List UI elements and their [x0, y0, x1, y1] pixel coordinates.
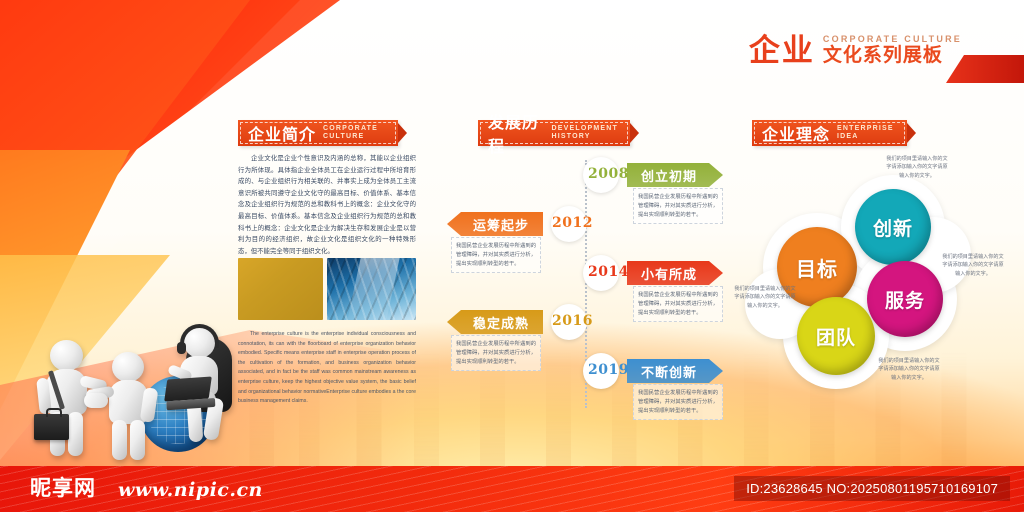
timeline-stage-banner[interactable]: 不断创新: [627, 359, 723, 383]
idea-note-1: 我们的项目里请输入你的文字请添加输入你的文字请原输入你的文字。: [885, 155, 949, 180]
enterprise-idea-diagram: 目标创新服务团队我们的项目里请输入你的文字请添加输入你的文字请原输入你的文字。我…: [745, 165, 1010, 395]
header-subtitle-cn: 文化系列展板: [823, 46, 962, 65]
idea-circle-2[interactable]: 创新: [855, 189, 931, 265]
idea-circle-label: 服务: [885, 286, 925, 313]
timeline-year: 2008: [588, 166, 629, 182]
section-title-intro-cn: 企业简介: [248, 121, 316, 145]
section-title-idea: 企业理念 ENTERPRISE IDEA: [752, 120, 907, 146]
timeline-stage-label: 创立初期: [641, 166, 697, 185]
timeline-stage-label: 稳定成熟: [473, 313, 529, 332]
timeline-stage-label: 不断创新: [641, 362, 697, 381]
idea-circle-4[interactable]: 团队: [797, 297, 875, 375]
header-subtitle-group: CORPORATE CULTURE 文化系列展板: [823, 34, 962, 67]
section-title-idea-cn: 企业理念: [762, 121, 830, 145]
site-logo: 昵享网: [30, 477, 96, 500]
timeline-stage-banner[interactable]: 小有所成: [627, 261, 723, 285]
idea-circle-label: 团队: [816, 323, 856, 350]
section-title-intro: 企业简介 CORPORATE CULTURE: [238, 120, 398, 146]
header-title-cn: 企业: [749, 36, 815, 67]
poster-board: 企业 CORPORATE CULTURE 文化系列展板 企业简介 CORPORA…: [0, 0, 1024, 512]
section-title-history-cn: 发展历程: [488, 109, 545, 157]
figure2-leg-left: [112, 420, 127, 460]
asset-id-badge: ID:23628645 NO:20250801195710169107: [734, 476, 1010, 501]
idea-note-4: 我们的项目里请输入你的文字请添加输入你的文字请原输入你的文字。: [733, 285, 797, 310]
section-title-intro-en: CORPORATE CULTURE: [323, 125, 378, 142]
timeline-stage-banner[interactable]: 运筹起步: [447, 212, 543, 236]
header-title-en: CORPORATE CULTURE: [823, 34, 962, 44]
timeline-year: 2014: [588, 264, 629, 280]
site-url[interactable]: www.nipic.cn: [118, 479, 263, 501]
idea-circle-3[interactable]: 服务: [867, 261, 943, 337]
poster-header: 企业 CORPORATE CULTURE 文化系列展板: [749, 34, 962, 67]
timeline-year: 2012: [552, 215, 593, 231]
idea-note-3: 我们的项目里请输入你的文字请添加输入你的文字请原输入你的文字。: [877, 357, 941, 382]
section-title-history: 发展历程 DEVELOPMENT HISTORY: [478, 120, 630, 146]
timeline-year: 2019: [588, 362, 629, 378]
timeline-year: 2016: [552, 313, 593, 329]
timeline-stage-label: 小有所成: [641, 264, 697, 283]
timeline-stage-description: 我国民营企业发展历程中所遇到的管理障碍，并对其实质进行分析，提出实现顺利转型的若…: [633, 384, 723, 420]
section-title-history-en: DEVELOPMENT HISTORY: [552, 125, 618, 142]
timeline-stage-banner[interactable]: 创立初期: [627, 163, 723, 187]
footer-bar: 昵享网 www.nipic.cn ID:23628645 NO:20250801…: [0, 466, 1024, 512]
idea-circle-label: 创新: [873, 214, 913, 241]
idea-note-2: 我们的项目里请输入你的文字请添加输入你的文字请原输入你的文字。: [941, 253, 1005, 278]
figure2-leg-right: [130, 420, 145, 460]
timeline-stage-banner[interactable]: 稳定成熟: [447, 310, 543, 334]
timeline-stage-label: 运筹起步: [473, 215, 529, 234]
idea-circle-label: 目标: [796, 253, 838, 282]
section-title-idea-en: ENTERPRISE IDEA: [837, 125, 894, 142]
